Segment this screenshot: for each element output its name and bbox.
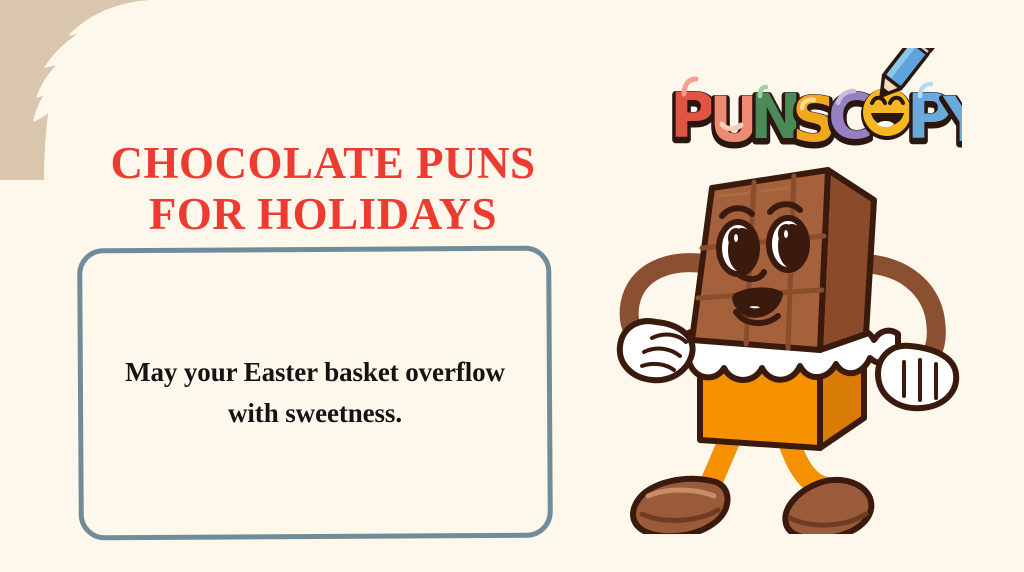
- quote-text: May your Easter basket overflow with swe…: [115, 352, 515, 434]
- page-title-line-2: FOR HOLIDAYS: [78, 189, 568, 239]
- quote-card: May your Easter basket overflow with swe…: [77, 246, 553, 541]
- brand-logo[interactable]: .bl { font-family: "DejaVu Sans", sans-s…: [662, 48, 962, 150]
- poster-canvas: CHOCOLATE PUNS FOR HOLIDAYS May your Eas…: [0, 0, 1024, 572]
- chocolate-bar-character-illustration: [612, 152, 968, 534]
- svg-text:Y: Y: [942, 83, 962, 150]
- page-title-line-1: CHOCOLATE PUNS: [78, 138, 568, 188]
- logo-letter-y: Y Y: [942, 83, 962, 150]
- logo-smiley-face-icon: [861, 88, 913, 140]
- page-title: CHOCOLATE PUNS FOR HOLIDAYS: [78, 138, 568, 239]
